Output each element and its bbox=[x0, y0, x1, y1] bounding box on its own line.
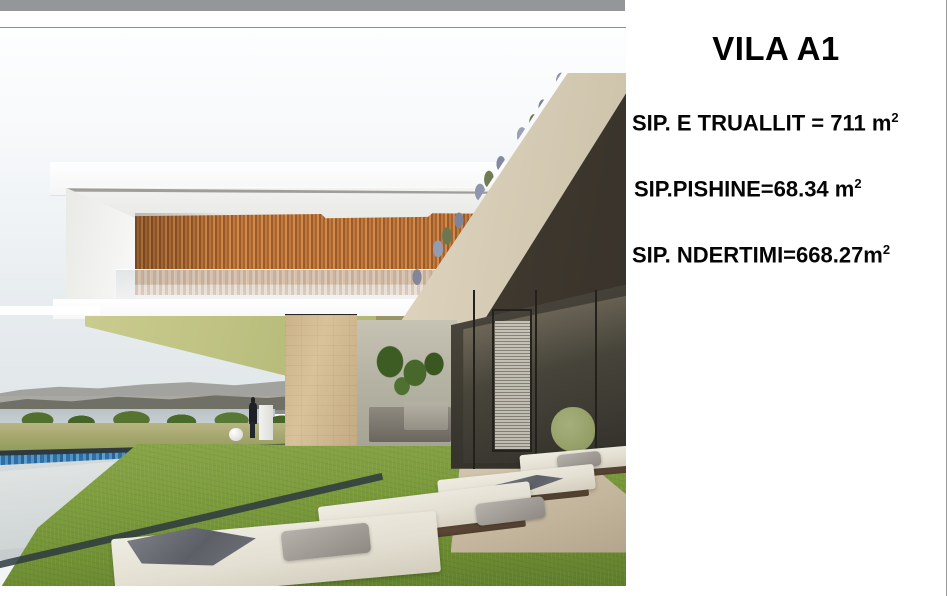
spec-line-building-area: SIP. NDERTIMI=668.27m2 bbox=[632, 242, 948, 268]
glass-mullion bbox=[535, 290, 537, 469]
spec-land-area-text: SIP. E TRUALLIT = 711 m bbox=[632, 110, 891, 135]
spec-pool-area-exponent: 2 bbox=[854, 176, 861, 191]
villa-exterior-render bbox=[0, 28, 626, 586]
spec-land-area-exponent: 2 bbox=[891, 110, 898, 125]
page-right-border bbox=[946, 0, 947, 596]
sliding-door-frame bbox=[492, 309, 532, 452]
glazing-garden-reflection bbox=[551, 407, 595, 452]
page-root: VILA A1 SIP. E TRUALLIT = 711 m2 SIP.PIS… bbox=[0, 0, 950, 596]
stone-clad-wall bbox=[285, 315, 358, 447]
left-roof-wing bbox=[0, 306, 100, 315]
spec-building-area-exponent: 2 bbox=[883, 242, 890, 257]
spec-line-pool-area: SIP.PISHINE=68.34 m2 bbox=[634, 176, 950, 202]
villa-photo-frame[interactable] bbox=[0, 27, 626, 586]
white-pillar bbox=[259, 405, 273, 440]
outdoor-armchair bbox=[404, 402, 448, 430]
garden-sphere-object bbox=[229, 428, 243, 441]
top-gray-bar bbox=[0, 0, 625, 11]
glass-mullion bbox=[595, 290, 597, 469]
spec-line-land-area: SIP. E TRUALLIT = 711 m2 bbox=[632, 110, 948, 136]
person-silhouette bbox=[248, 397, 257, 437]
info-panel: VILA A1 SIP. E TRUALLIT = 711 m2 SIP.PIS… bbox=[626, 0, 946, 596]
person-legs bbox=[250, 422, 255, 438]
spec-building-area-text: SIP. NDERTIMI=668.27m bbox=[632, 242, 883, 267]
person-body bbox=[249, 403, 257, 424]
spec-pool-area-text: SIP.PISHINE=68.34 m bbox=[634, 176, 854, 201]
page-title: VILA A1 bbox=[626, 30, 926, 68]
glass-mullion bbox=[473, 290, 475, 469]
